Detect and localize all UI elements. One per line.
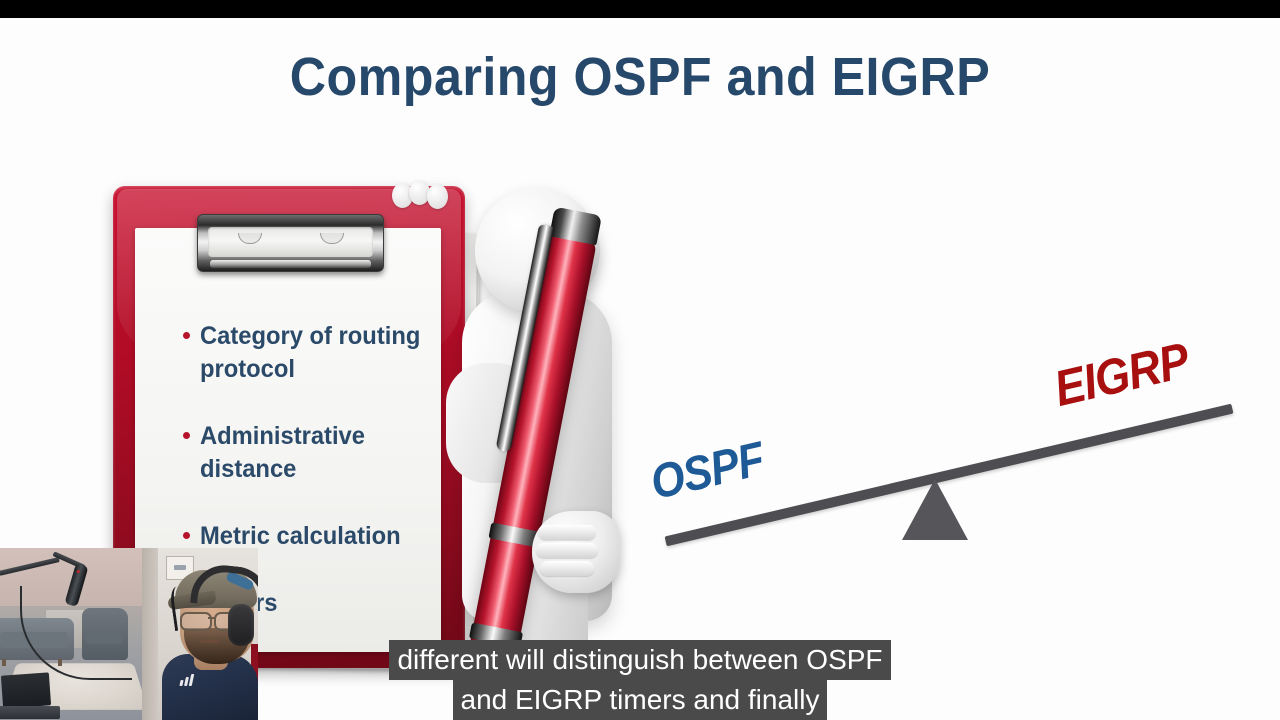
presenter-webcam-overlay[interactable] — [0, 548, 258, 720]
webcam-presenter-view — [142, 548, 258, 720]
pen-tip — [474, 643, 506, 689]
microphone-boom-arm — [0, 550, 114, 612]
clipboard-clip-icon — [197, 214, 384, 272]
microphone-icon — [64, 563, 88, 607]
clip-inner-plate — [208, 227, 373, 257]
bullet-label: Category of routing protocol — [200, 320, 421, 386]
seesaw-label-eigrp: EIGRP — [1049, 331, 1194, 418]
seesaw-balance-graphic: OSPF EIGRP — [650, 338, 1250, 568]
seesaw-fulcrum-triangle-icon — [902, 479, 968, 540]
clip-notch — [320, 233, 344, 244]
presenter-mouth — [200, 640, 218, 643]
seesaw-label-ospf: OSPF — [646, 432, 769, 511]
figure-hand-fingers — [392, 183, 454, 209]
door-frame — [142, 548, 158, 720]
list-item: Administrative distance — [183, 420, 433, 486]
clip-notch — [238, 233, 262, 244]
shirt-logo-icon — [180, 674, 196, 686]
video-player-frame: Comparing OSPF and EIGRP Category of rou… — [0, 0, 1280, 720]
bullet-label: Administrative distance — [200, 420, 421, 486]
bullet-dot-icon — [183, 532, 190, 539]
bullet-dot-icon — [183, 432, 190, 439]
room-laptop — [0, 674, 60, 720]
page-title: Comparing OSPF and EIGRP — [45, 46, 1235, 108]
figure-gripping-hand — [532, 511, 620, 593]
webcam-room-view — [0, 548, 142, 720]
headphone-earcup-icon — [228, 604, 254, 646]
list-item: Category of routing protocol — [183, 320, 433, 386]
clip-bottom-bar — [210, 260, 371, 268]
bullet-dot-icon — [183, 332, 190, 339]
letterbox-bar-top — [0, 0, 1280, 18]
